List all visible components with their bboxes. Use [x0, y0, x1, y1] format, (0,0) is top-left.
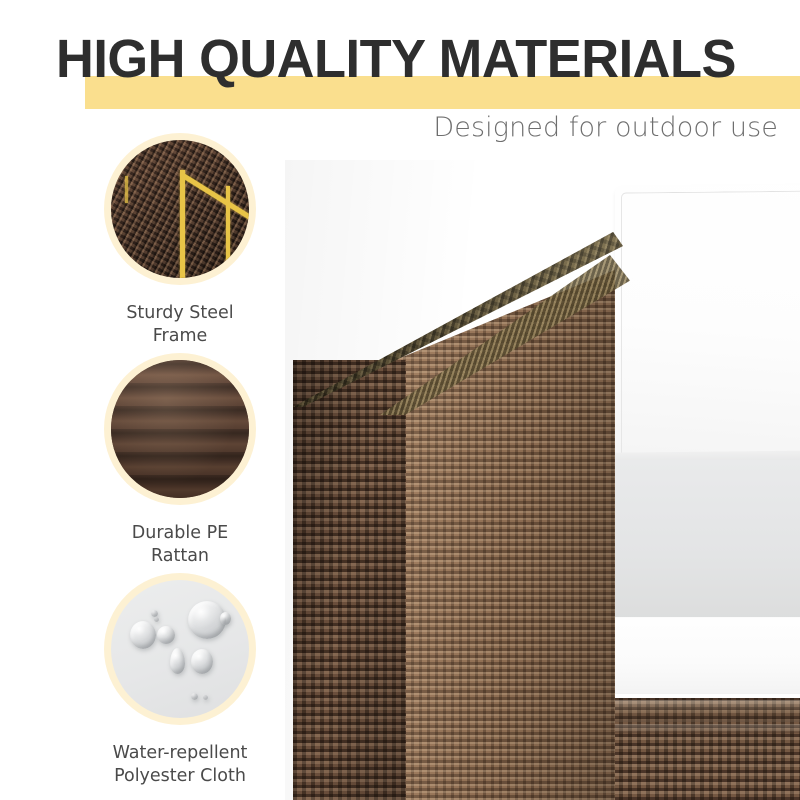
feature-image-ring [104, 573, 256, 725]
rattan-armrest-outer-face [293, 360, 406, 800]
feature-label: Durable PE Rattan [70, 522, 290, 568]
feature-item-water-repellent-cloth: Water-repellent Polyester Cloth [70, 573, 290, 788]
rattan-weave-texture [111, 360, 249, 498]
water-droplet-icon [157, 626, 175, 644]
feature-item-sturdy-steel-frame: Sturdy Steel Frame [70, 133, 290, 348]
feature-label: Sturdy Steel Frame [70, 302, 290, 348]
feature-list: Sturdy Steel Frame Durable PE Rattan [70, 133, 290, 793]
page-title: HIGH QUALITY MATERIALS [56, 28, 778, 90]
water-droplets-on-cloth-photo [111, 580, 249, 718]
feature-item-durable-pe-rattan: Durable PE Rattan [70, 353, 290, 568]
feature-image-ring [104, 353, 256, 505]
water-droplet-icon [191, 649, 213, 674]
product-feature-infographic: HIGH QUALITY MATERIALS Designed for outd… [0, 0, 800, 800]
rattan-corner-with-steel-frame-photo [111, 140, 249, 278]
page-subtitle: Designed for outdoor use [433, 112, 778, 143]
steel-frame-highlight-line [180, 170, 185, 278]
feature-label: Water-repellent Polyester Cloth [70, 742, 290, 788]
steel-frame-highlight-line [125, 176, 128, 204]
pe-rattan-weave-closeup-photo [111, 360, 249, 498]
white-back-cushion [615, 181, 800, 466]
water-droplet-icon [220, 612, 231, 625]
brown-rattan-outdoor-sofa-photo [285, 160, 800, 800]
steel-frame-highlight-line [226, 186, 230, 278]
feature-image-ring [104, 133, 256, 285]
